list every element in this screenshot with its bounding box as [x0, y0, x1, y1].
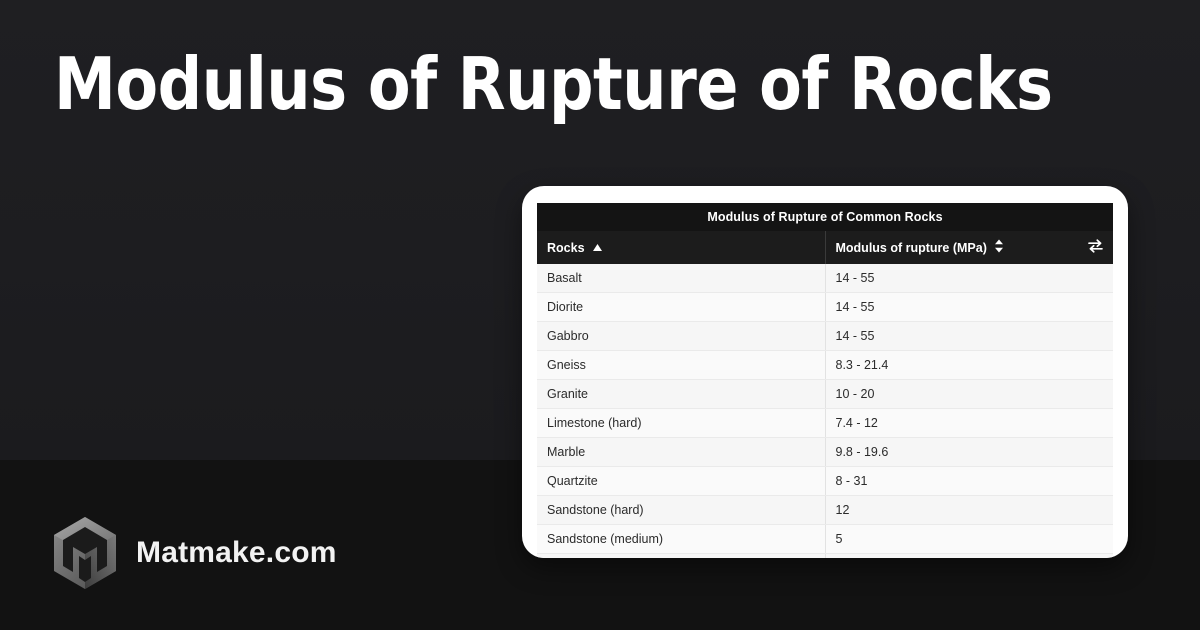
- sort-both-icon[interactable]: [994, 239, 1004, 256]
- table-row: Limestone (hard) 7.4 - 12: [537, 409, 1113, 438]
- cell-rock: Granite: [537, 380, 825, 409]
- rock-modulus-table: Modulus of Rupture of Common Rocks Rocks…: [537, 203, 1113, 558]
- page-title: Modulus of Rupture of Rocks: [54, 38, 1014, 130]
- cell-rock: Gneiss: [537, 351, 825, 380]
- matmake-cube-logo-icon: [52, 516, 118, 590]
- table-row: Marble 9.8 - 19.6: [537, 438, 1113, 467]
- cell-value: 14 - 55: [825, 264, 1113, 293]
- cell-value: 10 - 20: [825, 380, 1113, 409]
- column-header-modulus[interactable]: Modulus of rupture (MPa): [825, 231, 1113, 264]
- sort-ascending-icon[interactable]: [592, 241, 603, 255]
- table-row: Diorite 14 - 55: [537, 293, 1113, 322]
- cell-rock: Sandstone (medium): [537, 525, 825, 554]
- cell-rock: Diorite: [537, 293, 825, 322]
- table-row: Granite 10 - 20: [537, 380, 1113, 409]
- cell-rock: Limestone (hard): [537, 409, 825, 438]
- column-header-rocks-label: Rocks: [547, 241, 585, 255]
- swap-columns-icon[interactable]: [1088, 239, 1103, 256]
- brand-logo: Matmake.com: [52, 516, 337, 590]
- cell-value: 5: [825, 525, 1113, 554]
- table-caption: Modulus of Rupture of Common Rocks: [537, 203, 1113, 231]
- column-header-modulus-label: Modulus of rupture (MPa): [836, 241, 987, 255]
- cell-rock: Sandstone (hard): [537, 496, 825, 525]
- table-card: Modulus of Rupture of Common Rocks Rocks…: [522, 186, 1128, 558]
- cell-rock: Gabbro: [537, 322, 825, 351]
- cell-value: 14 - 55: [825, 293, 1113, 322]
- cell-value: 12: [825, 496, 1113, 525]
- table-row: Sandstone (hard) 12: [537, 496, 1113, 525]
- cell-value: 8 - 31: [825, 467, 1113, 496]
- cell-rock: Basalt: [537, 264, 825, 293]
- table-row: Quartzite 8 - 31: [537, 467, 1113, 496]
- cell-rock: Marble: [537, 438, 825, 467]
- table-row: Gabbro 14 - 55: [537, 322, 1113, 351]
- brand-name: Matmake.com: [136, 536, 337, 570]
- cell-value: 8.3 - 21.4: [825, 351, 1113, 380]
- table-row: Gneiss 8.3 - 21.4: [537, 351, 1113, 380]
- table-row: Sandstone (soft) 2.5: [537, 554, 1113, 559]
- table-row: Sandstone (medium) 5: [537, 525, 1113, 554]
- cell-value: 7.4 - 12: [825, 409, 1113, 438]
- table-body: Basalt 14 - 55 Diorite 14 - 55 Gabbro 14…: [537, 264, 1113, 558]
- cell-rock: Sandstone (soft): [537, 554, 825, 559]
- column-header-rocks[interactable]: Rocks: [537, 231, 825, 264]
- table-row: Basalt 14 - 55: [537, 264, 1113, 293]
- cell-value: 14 - 55: [825, 322, 1113, 351]
- cell-value: 9.8 - 19.6: [825, 438, 1113, 467]
- cell-value: 2.5: [825, 554, 1113, 559]
- cell-rock: Quartzite: [537, 467, 825, 496]
